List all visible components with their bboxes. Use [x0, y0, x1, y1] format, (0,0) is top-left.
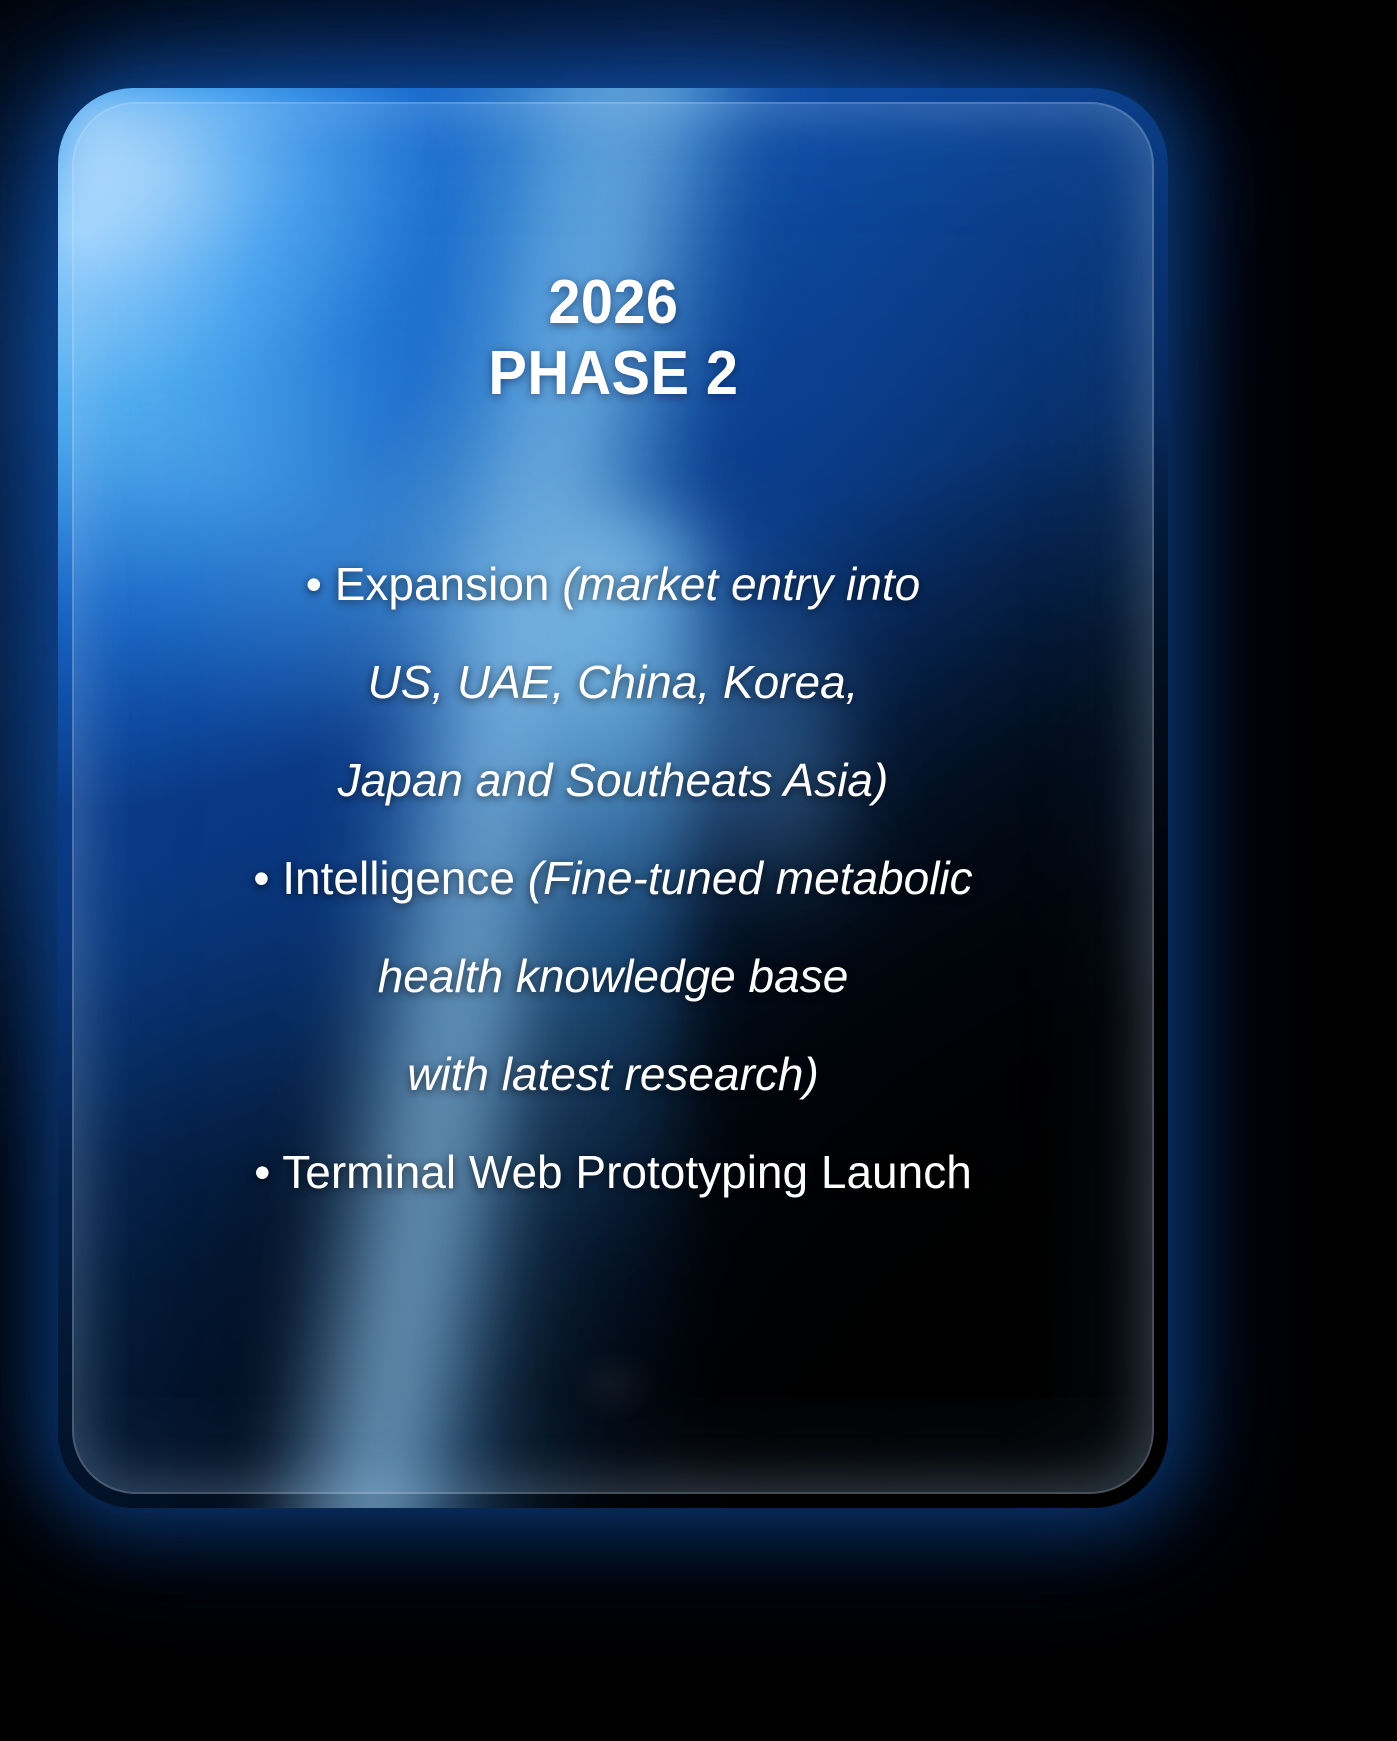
- bullet-detail-intelligence-1: (Fine-tuned metabolic: [528, 852, 973, 904]
- phase-card: 2026 PHASE 2 • Expansion (market entry i…: [58, 88, 1168, 1508]
- bullet-line-expansion-3: Japan and Southeats Asia): [112, 731, 1114, 829]
- bullet-detail-expansion-3: Japan and Southeats Asia): [338, 754, 889, 806]
- bullet-label-expansion: Expansion: [335, 558, 550, 610]
- bullet-line-expansion-1: • Expansion (market entry into: [112, 535, 1114, 633]
- bullet-detail-expansion-1: (market entry into: [562, 558, 920, 610]
- bullet-detail-intelligence-2: health knowledge base: [378, 950, 849, 1002]
- bullet-marker: •: [254, 1146, 270, 1198]
- heading-year: 2026: [488, 268, 738, 339]
- bullet-label-terminal: Terminal Web Prototyping Launch: [282, 1146, 972, 1198]
- bullet-line-expansion-2: US, UAE, China, Korea,: [112, 633, 1114, 731]
- slide-heading: 2026 PHASE 2: [488, 268, 738, 409]
- bullet-line-intelligence-2: health knowledge base: [112, 927, 1114, 1025]
- slide-content: 2026 PHASE 2 • Expansion (market entry i…: [58, 88, 1168, 1508]
- bullet-line-terminal-1: • Terminal Web Prototyping Launch: [112, 1123, 1114, 1221]
- bullet-label-intelligence: Intelligence: [282, 852, 515, 904]
- slide-stage: 2026 PHASE 2 • Expansion (market entry i…: [0, 0, 1397, 1741]
- bullet-line-intelligence-3: with latest research): [112, 1025, 1114, 1123]
- bullet-detail-intelligence-3: with latest research): [407, 1048, 819, 1100]
- bullet-marker: •: [253, 852, 269, 904]
- bullet-line-intelligence-1: • Intelligence (Fine-tuned metabolic: [112, 829, 1114, 927]
- bullet-detail-expansion-2: US, UAE, China, Korea,: [368, 656, 859, 708]
- bullet-list: • Expansion (market entry into US, UAE, …: [112, 535, 1114, 1221]
- heading-phase: PHASE 2: [488, 339, 738, 410]
- bullet-marker: •: [306, 558, 322, 610]
